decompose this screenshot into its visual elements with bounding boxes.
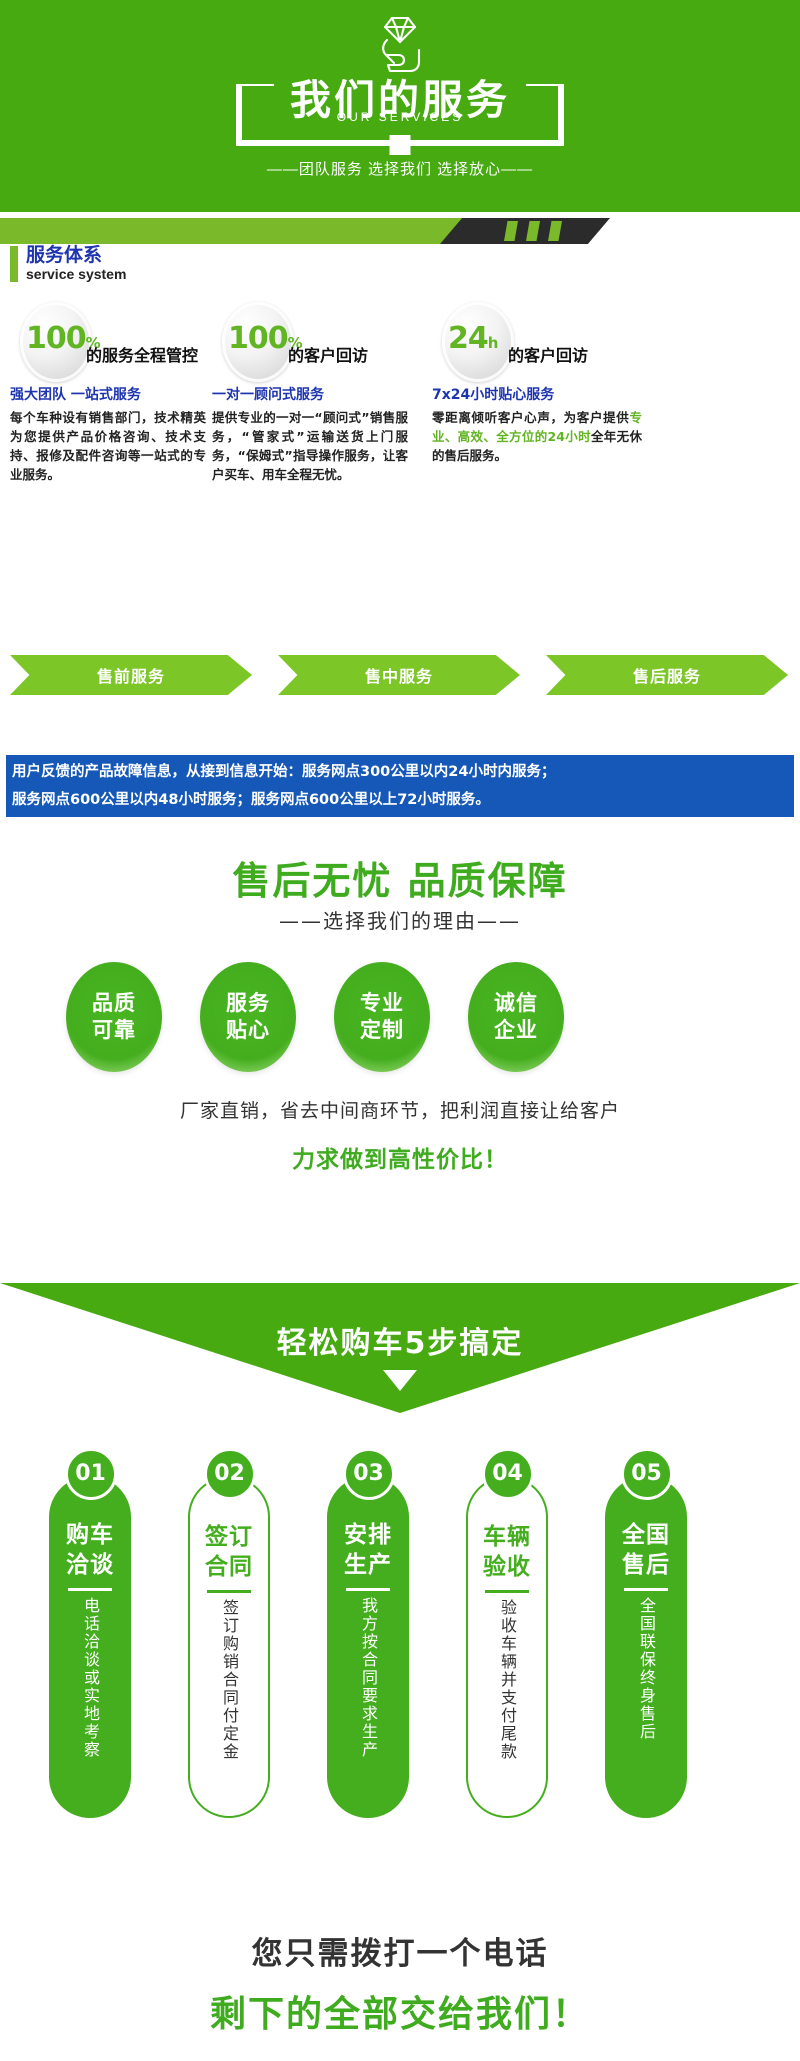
reason-line-2: 可靠 xyxy=(92,1017,136,1044)
hero-tagline: ——团队服务 选择我们 选择放心—— xyxy=(267,158,533,179)
chevron-pre-sales[interactable]: 售前服务 xyxy=(10,655,252,695)
purchase-steps-row: 购车 洽谈 电话洽谈或实地考察 01 签订 合同 签订购销合同付定金 02 安排… xyxy=(0,1440,800,1910)
stat-title: 一对一顾问式服务 xyxy=(212,384,324,404)
step-description: 全国联保终身售后 xyxy=(635,1597,657,1813)
reason-line-1: 品质 xyxy=(92,990,136,1017)
step-name-line-2: 生产 xyxy=(344,1550,392,1580)
chevron-label: 售前服务 xyxy=(97,663,165,687)
step-number: 04 xyxy=(492,1463,523,1485)
reason-badge-quality[interactable]: 品质 可靠 xyxy=(66,962,162,1072)
step-number: 03 xyxy=(353,1463,384,1485)
step-name-line-2: 售后 xyxy=(622,1550,670,1580)
step-number: 05 xyxy=(631,1463,662,1485)
down-triangle-icon xyxy=(383,1370,417,1391)
step-description: 验收车辆并支付尾款 xyxy=(496,1599,518,1815)
stat-body: 提供专业的一对一“顾问式”销售服务，“管家式”运输送货上门服务，“保姆式”指导操… xyxy=(212,408,408,484)
reason-badges-row: 品质 可靠 服务 贴心 专业 定制 诚信 企业 xyxy=(0,962,800,1082)
five-steps-title: 轻松购车5步搞定 xyxy=(0,1318,800,1362)
stat-body-pre: 零距离倾听客户心声，为客户提供 xyxy=(432,410,629,425)
section-title-en: service system xyxy=(26,266,126,282)
cost-performance-text: 力求做到高性价比！ xyxy=(0,1140,800,1174)
chevron-label: 售中服务 xyxy=(365,663,433,687)
step-divider xyxy=(624,1588,668,1591)
chevron-during-sales[interactable]: 售中服务 xyxy=(278,655,520,695)
step-pill: 安排 生产 我方按合同要求生产 xyxy=(327,1476,409,1818)
stat-badge-label: 的客户回访 xyxy=(508,342,588,366)
service-stats-row: 100% 的服务全程管控 强大团队 一站式服务 每个车种设有销售部门，技术精英为… xyxy=(0,300,800,500)
step-number-badge: 02 xyxy=(204,1448,256,1500)
section-accent-bar xyxy=(10,246,18,282)
step-number: 02 xyxy=(214,1463,245,1485)
step-name-line-1: 车辆 xyxy=(483,1522,531,1552)
stat-number: 24h xyxy=(448,324,497,354)
step-divider xyxy=(68,1588,112,1591)
reason-line-1: 服务 xyxy=(226,990,270,1017)
reason-line-1: 诚信 xyxy=(494,990,538,1017)
step-pill: 车辆 验收 验收车辆并支付尾款 xyxy=(466,1476,548,1818)
step-description: 我方按合同要求生产 xyxy=(357,1597,379,1813)
response-time-line-2: 服务网点600公里以内48小时服务；服务网点600公里以上72小时服务。 xyxy=(12,786,788,814)
step-name-line-2: 验收 xyxy=(483,1552,531,1582)
reason-line-2: 贴心 xyxy=(226,1017,270,1044)
chevron-label: 售后服务 xyxy=(633,663,701,687)
hero-banner: 我们的服务 OUR SERVICES ——团队服务 选择我们 选择放心—— xyxy=(0,0,800,212)
stat-badge-label: 的客户回访 xyxy=(288,342,368,366)
step-description: 签订购销合同付定金 xyxy=(218,1599,240,1815)
step-divider xyxy=(346,1588,390,1591)
stat-badge-label: 的服务全程管控 xyxy=(86,342,198,366)
section-title-cn: 服务体系 xyxy=(26,244,126,266)
footer-line-1: 您只需拨打一个电话 xyxy=(0,1928,800,1973)
reason-line-2: 企业 xyxy=(494,1017,538,1044)
section-banner-graphic xyxy=(0,212,800,248)
worry-free-subtitle: ——选择我们的理由—— xyxy=(0,905,800,934)
step-pill: 全国 售后 全国联保终身售后 xyxy=(605,1476,687,1818)
step-pill: 购车 洽谈 电话洽谈或实地考察 xyxy=(49,1476,131,1818)
step-number-badge: 05 xyxy=(621,1448,673,1500)
reason-badge-service[interactable]: 服务 贴心 xyxy=(200,962,296,1072)
stat-column-3: 24h 的客户回访 7x24小时贴心服务 零距离倾听客户心声，为客户提供专业、高… xyxy=(430,300,680,384)
step-number-badge: 01 xyxy=(65,1448,117,1500)
step-name-line-1: 签订 xyxy=(205,1522,253,1552)
step-number-badge: 03 xyxy=(343,1448,395,1500)
footer-line-2: 剩下的全部交给我们！ xyxy=(0,1985,800,2037)
service-phase-chevrons: 售前服务 售中服务 售后服务 xyxy=(0,655,800,701)
reason-line-2: 定制 xyxy=(360,1017,404,1044)
step-number: 01 xyxy=(75,1463,106,1485)
stat-body: 零距离倾听客户心声，为客户提供专业、高效、全方位的24小时全年无休的售后服务。 xyxy=(432,408,642,465)
direct-sales-text: 厂家直销，省去中间商环节，把利润直接让给客户 xyxy=(0,1096,800,1123)
stat-body: 每个车种设有销售部门，技术精英为您提供产品价格咨询、技术支持、报修及配件咨询等一… xyxy=(10,408,206,484)
stat-badge-2: 100% 的客户回访 xyxy=(210,300,460,384)
step-name-line-2: 合同 xyxy=(205,1552,253,1582)
stat-title: 7x24小时贴心服务 xyxy=(432,384,554,404)
reason-badge-custom[interactable]: 专业 定制 xyxy=(334,962,430,1072)
reason-badge-integrity[interactable]: 诚信 企业 xyxy=(468,962,564,1072)
step-pill: 签订 合同 签订购销合同付定金 xyxy=(188,1476,270,1818)
step-name-line-1: 全国 xyxy=(622,1520,670,1550)
step-name-line-1: 安排 xyxy=(344,1520,392,1550)
stat-title: 强大团队 一站式服务 xyxy=(10,384,141,404)
section-header-service-system: 服务体系 service system xyxy=(10,244,126,282)
step-divider xyxy=(485,1590,529,1593)
step-name-line-1: 购车 xyxy=(66,1520,114,1550)
stat-badge-3: 24h 的客户回访 xyxy=(430,300,680,384)
step-number-badge: 04 xyxy=(482,1448,534,1500)
stat-column-2: 100% 的客户回访 一对一顾问式服务 提供专业的一对一“顾问式”销售服务，“管… xyxy=(210,300,460,384)
worry-free-title: 售后无忧 品质保障 xyxy=(0,850,800,905)
diamond-in-hand-icon xyxy=(370,14,430,78)
step-name-line-2: 洽谈 xyxy=(66,1550,114,1580)
response-time-line-1: 用户反馈的产品故障信息，从接到信息开始：服务网点300公里以内24小时内服务； xyxy=(12,758,788,786)
reason-line-1: 专业 xyxy=(360,990,404,1017)
step-divider xyxy=(207,1590,251,1593)
step-description: 电话洽谈或实地考察 xyxy=(79,1597,101,1813)
response-time-banner: 用户反馈的产品故障信息，从接到信息开始：服务网点300公里以内24小时内服务； … xyxy=(6,755,794,817)
chevron-after-sales[interactable]: 售后服务 xyxy=(546,655,788,695)
page-subtitle: OUR SERVICES xyxy=(337,110,463,124)
